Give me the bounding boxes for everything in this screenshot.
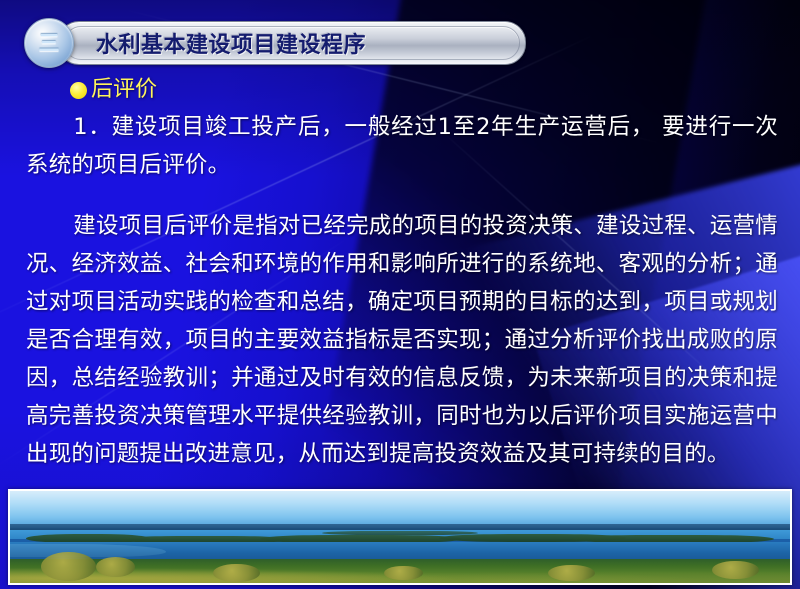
yellow-dot-bullet-icon bbox=[70, 82, 87, 99]
page-title: 水利基本建设项目建设程序 bbox=[96, 27, 366, 59]
section-heading: 后评价 bbox=[70, 78, 800, 102]
slide-title-bar: 三 水利基本建设项目建设程序 bbox=[24, 18, 524, 66]
section-number-glyph: 三 bbox=[39, 33, 60, 54]
photo-sky bbox=[10, 491, 790, 528]
reservoir-panorama-photo bbox=[10, 491, 790, 583]
body-paragraph-2: 建设项目后评价是指对已经完成的项目的投资决策、建设过程、运营情况、经济效益、社会… bbox=[0, 207, 800, 473]
slide-body: 后评价 1．建设项目竣工投产后，一般经过1至2年生产运营后， 要进行一次系统的项… bbox=[0, 78, 800, 495]
section-number-three-icon: 三 bbox=[24, 18, 74, 68]
photo-shrub bbox=[41, 552, 96, 581]
section-heading-label: 后评价 bbox=[91, 78, 157, 102]
presentation-slide: 三 水利基本建设项目建设程序 后评价 1．建设项目竣工投产后，一般经过1至2年生… bbox=[0, 0, 800, 589]
photo-shrub bbox=[548, 565, 595, 582]
slide-photo-frame bbox=[8, 489, 792, 585]
photo-shrub bbox=[712, 561, 759, 579]
photo-shrub bbox=[213, 564, 260, 582]
body-paragraph-1: 1．建设项目竣工投产后，一般经过1至2年生产运营后， 要进行一次系统的项目后评价… bbox=[0, 108, 800, 184]
